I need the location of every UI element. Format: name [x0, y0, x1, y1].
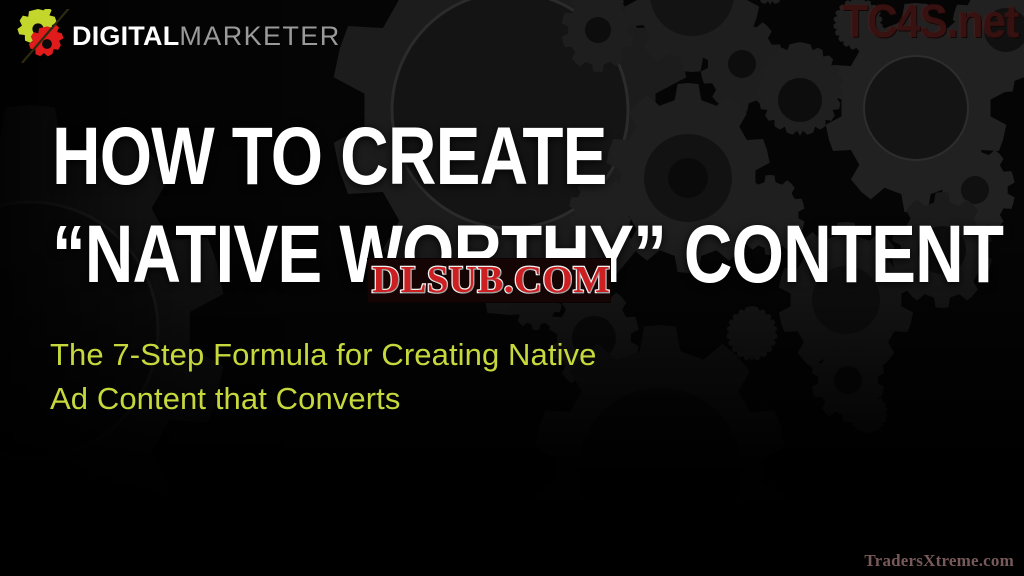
slide-canvas: DIGITALMARKETER HOW TO CREATE “NATIVE WO… [0, 0, 1024, 576]
watermark-bottom-right: TradersXtreme.com [864, 551, 1014, 571]
logo-word-digital: DIGITAL [72, 21, 179, 51]
page-subtitle: The 7-Step Formula for Creating Native A… [50, 333, 597, 421]
title-line-1: HOW TO CREATE [52, 108, 790, 206]
watermark-center: DLSUB.COM [368, 259, 610, 302]
digitalmarketer-logo: DIGITALMARKETER [14, 8, 341, 64]
logo-wordmark: DIGITALMARKETER [72, 23, 341, 50]
watermark-top-right: TC4S.net [842, 0, 1018, 47]
watermark-center-text: DLSUB.COM [372, 261, 610, 299]
two-gears-icon [14, 9, 76, 63]
logo-word-marketer: MARKETER [179, 21, 340, 51]
